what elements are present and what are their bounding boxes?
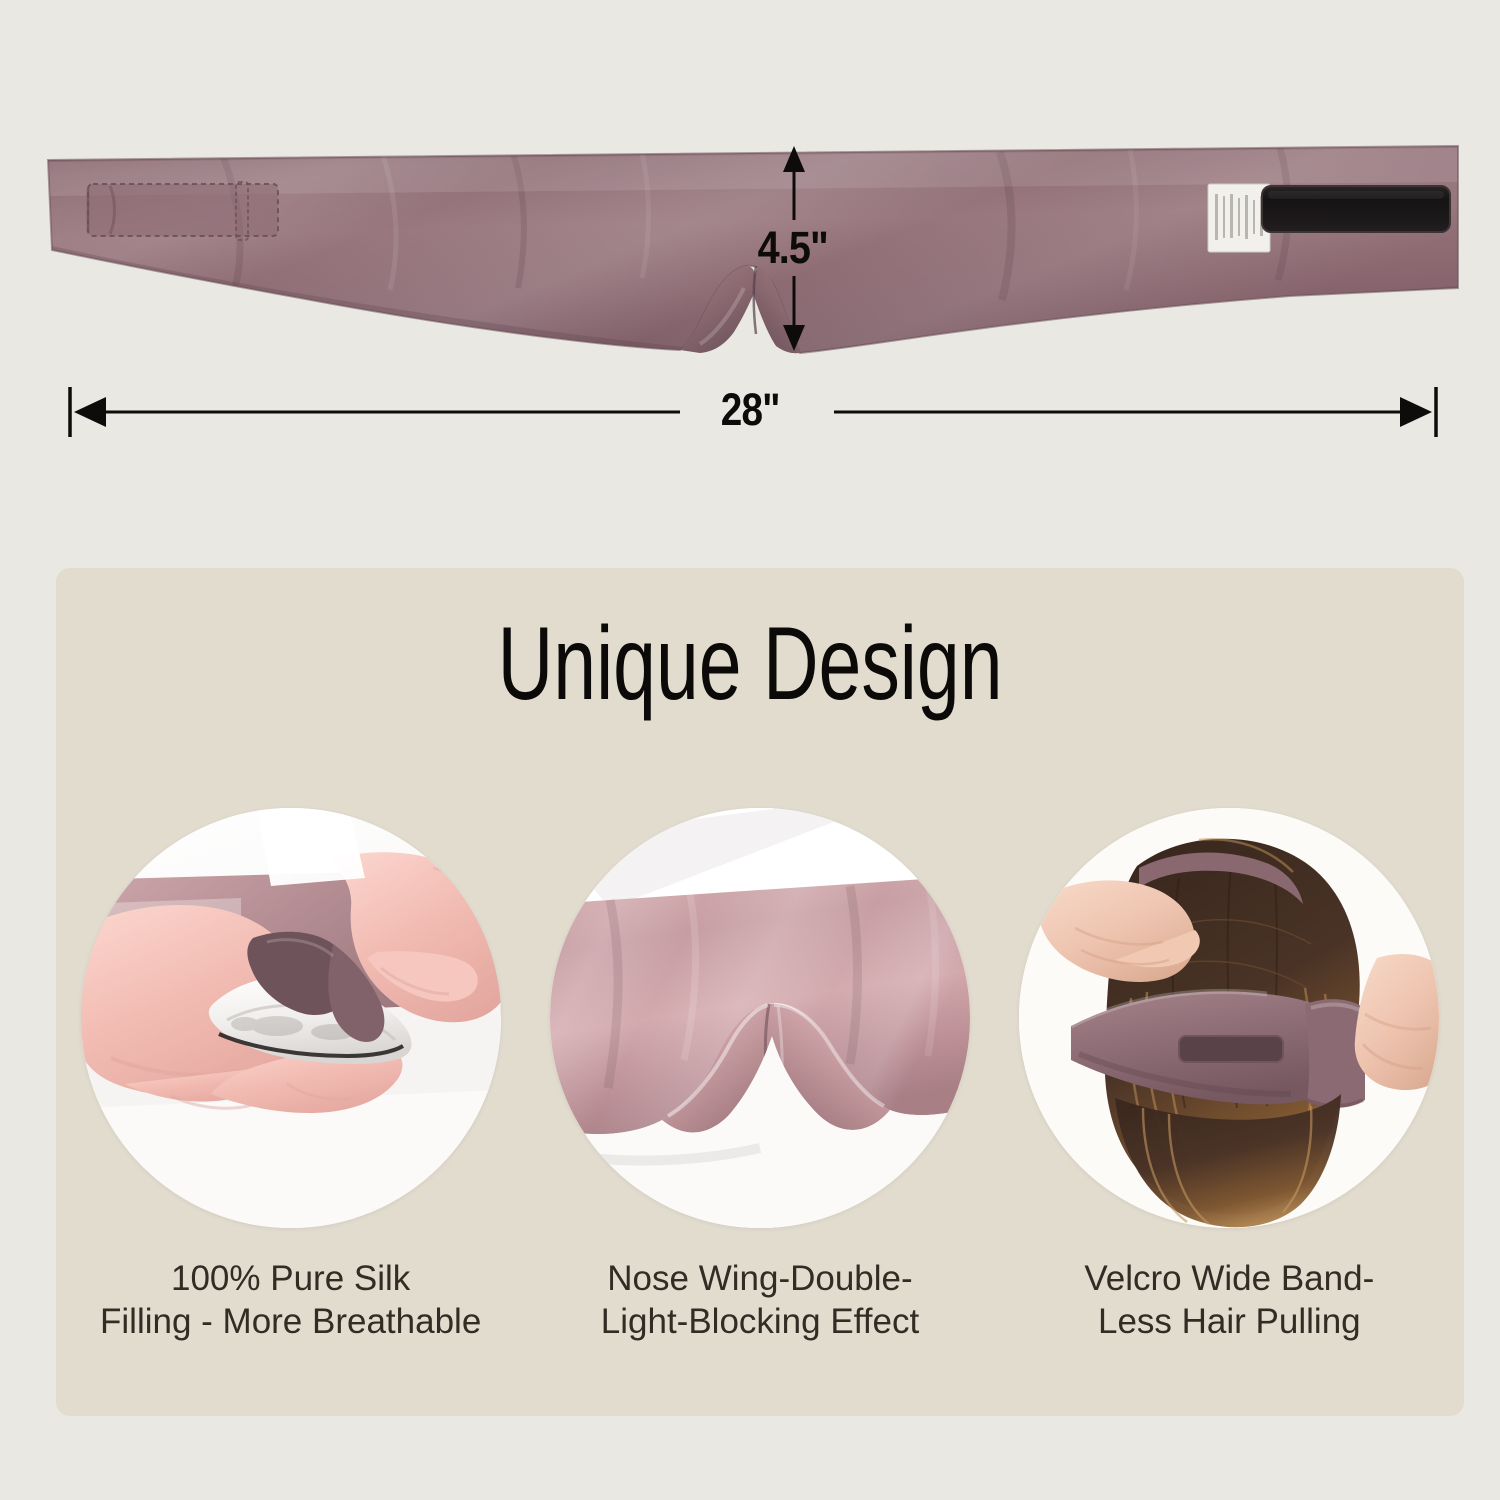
feature-image-silk-filling <box>81 808 501 1228</box>
velcro-patch <box>1179 1036 1283 1062</box>
left-strap-loop <box>88 182 278 240</box>
feature-image-velcro-band <box>1019 808 1439 1228</box>
product-infographic: 4.5" 28" Unique Design <box>0 0 1500 1500</box>
woman-fastening-band-illustration <box>1019 808 1439 1228</box>
height-dimension-label: 4.5" <box>758 222 828 274</box>
width-dimension-label: 28" <box>0 384 1500 436</box>
feature-image-nose-wing <box>550 808 970 1228</box>
feature-item: 100% Pure Silk Filling - More Breathable <box>71 808 511 1343</box>
mask-body <box>40 138 1465 373</box>
product-photo-stage: 4.5" 28" <box>0 0 1500 540</box>
feature-caption: Velcro Wide Band- Less Hair Pulling <box>1084 1258 1374 1343</box>
sleep-mask-illustration <box>40 138 1465 373</box>
care-label <box>1208 184 1270 252</box>
nose-wing-closeup-illustration <box>550 808 970 1228</box>
velcro-strip <box>1262 186 1450 232</box>
feature-caption: Nose Wing-Double- Light-Blocking Effect <box>601 1258 919 1343</box>
hands-holding-silk-filling-illustration <box>81 808 501 1228</box>
sleep-mask-product-image <box>40 138 1465 373</box>
feature-caption: 100% Pure Silk Filling - More Breathable <box>100 1258 481 1343</box>
feature-item: Velcro Wide Band- Less Hair Pulling <box>1009 808 1449 1343</box>
panel-title: Unique Design <box>0 612 1500 716</box>
feature-list: 100% Pure Silk Filling - More Breathable <box>56 808 1464 1388</box>
feature-item: Nose Wing-Double- Light-Blocking Effect <box>540 808 980 1343</box>
